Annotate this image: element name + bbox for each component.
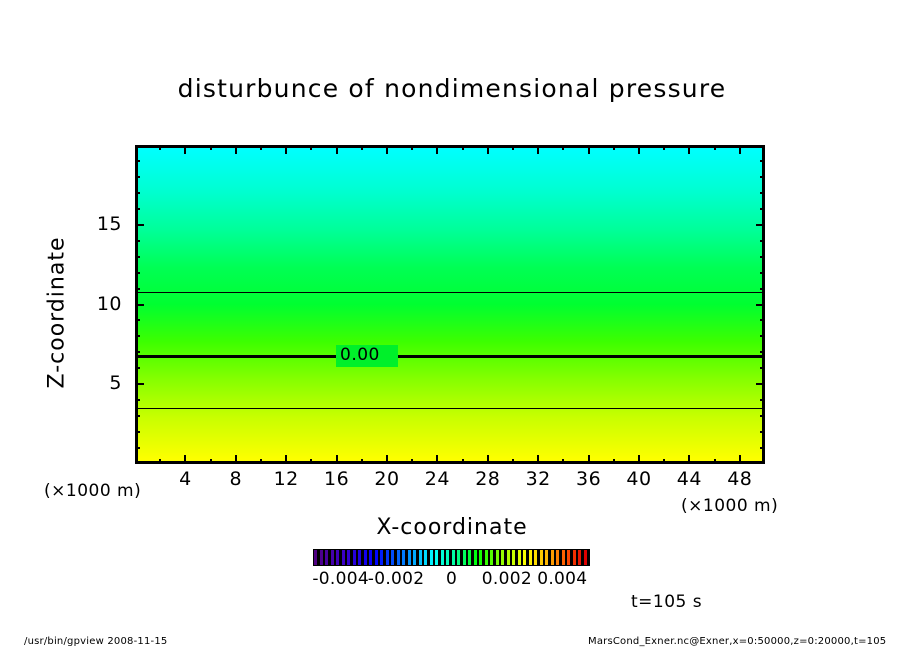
x-tick-label-40: 40 <box>619 468 659 490</box>
y-tick-right-17 <box>760 192 765 194</box>
contour-label-zero: 0.00 <box>340 347 380 364</box>
x-tick-32 <box>537 455 539 464</box>
x-tick-36 <box>588 455 590 464</box>
y-tick-right-5 <box>756 383 765 385</box>
colorbar-tick-label-3: 0.002 <box>477 569 537 589</box>
y-tick-17 <box>135 192 140 194</box>
x-tick-6 <box>210 459 212 464</box>
contour-line-negative <box>138 292 762 293</box>
x-tick-label-12: 12 <box>266 468 306 490</box>
colorbar-stripe <box>567 550 570 565</box>
colorbar-stripe <box>375 550 378 565</box>
colorbar-stripe <box>523 550 526 565</box>
x-tick-26 <box>462 459 464 464</box>
x-tick-top-40 <box>638 145 640 154</box>
y-tick-right-14 <box>760 240 765 242</box>
x-tick-top-26 <box>462 145 464 150</box>
x-tick-label-28: 28 <box>468 468 508 490</box>
x-tick-14 <box>310 459 312 464</box>
contour-line-positive <box>138 408 762 409</box>
y-tick-label-5: 5 <box>86 372 122 394</box>
colorbar-stripe <box>479 550 482 565</box>
x-tick-label-32: 32 <box>518 468 558 490</box>
colorbar-stripe <box>320 550 323 565</box>
y-tick-7 <box>135 351 140 353</box>
colorbar-stripe <box>562 550 565 565</box>
y-tick-10 <box>135 304 144 306</box>
colorbar-tick-label-1: -0.002 <box>366 569 426 589</box>
colorbar-stripe <box>358 550 361 565</box>
colorbar-stripe <box>507 550 510 565</box>
colorbar-stripe <box>413 550 416 565</box>
x-tick-8 <box>235 455 237 464</box>
colorbar-stripe <box>457 550 460 565</box>
colorbar-stripe <box>369 550 372 565</box>
x-tick-top-20 <box>386 145 388 154</box>
colorbar-stripe <box>397 550 400 565</box>
x-tick-10 <box>260 459 262 464</box>
y-tick-right-1 <box>760 447 765 449</box>
colorbar-stripe <box>578 550 581 565</box>
y-tick-right-2 <box>760 431 765 433</box>
colorbar-stripe <box>485 550 488 565</box>
colorbar-stripe <box>573 550 576 565</box>
x-tick-label-20: 20 <box>367 468 407 490</box>
x-tick-label-24: 24 <box>417 468 457 490</box>
x-tick-28 <box>487 455 489 464</box>
colorbar-stripes <box>314 550 589 565</box>
field-heatmap <box>138 148 762 461</box>
colorbar-stripe <box>435 550 438 565</box>
x-tick-38 <box>613 459 615 464</box>
y-tick-15 <box>135 224 144 226</box>
x-tick-4 <box>184 455 186 464</box>
colorbar-stripe <box>474 550 477 565</box>
x-tick-18 <box>361 459 363 464</box>
y-tick-3 <box>135 415 140 417</box>
x-tick-40 <box>638 455 640 464</box>
colorbar-stripe <box>512 550 515 565</box>
colorbar-stripe <box>391 550 394 565</box>
colorbar-stripe <box>364 550 367 565</box>
colorbar-stripe <box>408 550 411 565</box>
x-tick-44 <box>688 455 690 464</box>
x-tick-42 <box>663 459 665 464</box>
x-tick-top-44 <box>688 145 690 154</box>
x-tick-label-44: 44 <box>669 468 709 490</box>
colorbar-stripe <box>529 550 532 565</box>
y-tick-8 <box>135 335 140 337</box>
y-tick-12 <box>135 272 140 274</box>
x-tick-top-48 <box>739 145 741 154</box>
colorbar-stripe <box>347 550 350 565</box>
y-tick-11 <box>135 288 140 290</box>
y-tick-9 <box>135 319 140 321</box>
contour-line-zero <box>138 355 762 358</box>
x-tick-top-32 <box>537 145 539 154</box>
y-tick-right-8 <box>760 335 765 337</box>
x-tick-16 <box>336 455 338 464</box>
colorbar-stripe <box>430 550 433 565</box>
x-tick-top-28 <box>487 145 489 154</box>
x-axis-title: X-coordinate <box>0 515 904 540</box>
x-tick-top-46 <box>714 145 716 150</box>
x-tick-top-34 <box>562 145 564 150</box>
x-tick-top-2 <box>159 145 161 150</box>
colorbar-stripe <box>331 550 334 565</box>
x-tick-top-18 <box>361 145 363 150</box>
x-tick-48 <box>739 455 741 464</box>
x-tick-top-14 <box>310 145 312 150</box>
colorbar-stripe <box>353 550 356 565</box>
x-axis-unit-right: (×1000 m) <box>681 496 778 516</box>
y-tick-right-7 <box>760 351 765 353</box>
y-tick-right-3 <box>760 415 765 417</box>
x-tick-top-36 <box>588 145 590 154</box>
colorbar-stripe <box>380 550 383 565</box>
y-tick-14 <box>135 240 140 242</box>
x-tick-top-30 <box>512 145 514 150</box>
y-tick-right-11 <box>760 288 765 290</box>
x-tick-label-16: 16 <box>317 468 357 490</box>
y-tick-right-12 <box>760 272 765 274</box>
x-tick-22 <box>411 459 413 464</box>
colorbar-tick-label-0: -0.004 <box>311 569 371 589</box>
x-tick-top-38 <box>613 145 615 150</box>
colorbar-stripe <box>463 550 466 565</box>
colorbar-stripe <box>424 550 427 565</box>
colorbar-gradient <box>313 549 590 566</box>
y-tick-right-18 <box>760 176 765 178</box>
footer-command: /usr/bin/gpview 2008-11-15 <box>24 636 167 647</box>
y-tick-right-13 <box>760 256 765 258</box>
y-tick-1 <box>135 447 140 449</box>
colorbar-stripe <box>325 550 328 565</box>
y-axis-title: Z-coordinate <box>45 213 70 413</box>
x-tick-label-4: 4 <box>165 468 205 490</box>
colorbar-stripe <box>551 550 554 565</box>
colorbar-stripe <box>534 550 537 565</box>
colorbar-stripe <box>468 550 471 565</box>
y-tick-right-16 <box>760 208 765 210</box>
x-tick-top-4 <box>184 145 186 154</box>
colorbar-stripe <box>556 550 559 565</box>
colorbar-stripe <box>402 550 405 565</box>
y-tick-right-10 <box>756 304 765 306</box>
colorbar-stripe <box>545 550 548 565</box>
y-tick-6 <box>135 367 140 369</box>
y-tick-right-4 <box>760 399 765 401</box>
y-tick-right-19 <box>760 160 765 162</box>
colorbar <box>313 549 590 566</box>
x-tick-20 <box>386 455 388 464</box>
x-tick-top-10 <box>260 145 262 150</box>
colorbar-stripe <box>501 550 504 565</box>
y-tick-label-15: 15 <box>86 213 122 235</box>
y-tick-label-10: 10 <box>86 293 122 315</box>
colorbar-stripe <box>452 550 455 565</box>
colorbar-stripe <box>584 550 587 565</box>
colorbar-stripe <box>446 550 449 565</box>
y-tick-16 <box>135 208 140 210</box>
x-tick-12 <box>285 455 287 464</box>
y-tick-13 <box>135 256 140 258</box>
x-tick-top-42 <box>663 145 665 150</box>
time-annotation: t=105 s <box>631 592 702 612</box>
colorbar-tick-label-2: 0 <box>422 569 482 589</box>
y-tick-5 <box>135 383 144 385</box>
x-tick-top-16 <box>336 145 338 154</box>
colorbar-tick-label-4: 0.004 <box>532 569 592 589</box>
y-tick-right-15 <box>756 224 765 226</box>
page-title: disturbunce of nondimensional pressure <box>0 74 904 103</box>
x-tick-label-48: 48 <box>720 468 760 490</box>
y-tick-18 <box>135 176 140 178</box>
x-tick-top-22 <box>411 145 413 150</box>
y-tick-right-9 <box>760 319 765 321</box>
x-tick-label-36: 36 <box>569 468 609 490</box>
x-tick-2 <box>159 459 161 464</box>
colorbar-stripe <box>496 550 499 565</box>
colorbar-stripe <box>342 550 345 565</box>
y-tick-2 <box>135 431 140 433</box>
plot-area: 0.00 <box>135 145 765 464</box>
footer-dataset: MarsCond_Exner.nc@Exner,x=0:50000,z=0:20… <box>588 636 886 647</box>
x-tick-top-6 <box>210 145 212 150</box>
x-tick-top-8 <box>235 145 237 154</box>
colorbar-stripe <box>336 550 339 565</box>
colorbar-stripe <box>518 550 521 565</box>
colorbar-stripe <box>386 550 389 565</box>
x-tick-24 <box>436 455 438 464</box>
y-tick-4 <box>135 399 140 401</box>
x-tick-label-8: 8 <box>216 468 256 490</box>
x-tick-top-24 <box>436 145 438 154</box>
colorbar-stripe <box>314 550 317 565</box>
y-tick-19 <box>135 160 140 162</box>
x-axis-unit-left: (×1000 m) <box>44 481 141 501</box>
y-tick-right-6 <box>760 367 765 369</box>
x-tick-top-12 <box>285 145 287 154</box>
x-tick-46 <box>714 459 716 464</box>
colorbar-stripe <box>441 550 444 565</box>
colorbar-stripe <box>540 550 543 565</box>
colorbar-stripe <box>419 550 422 565</box>
colorbar-stripe <box>490 550 493 565</box>
x-tick-30 <box>512 459 514 464</box>
x-tick-34 <box>562 459 564 464</box>
